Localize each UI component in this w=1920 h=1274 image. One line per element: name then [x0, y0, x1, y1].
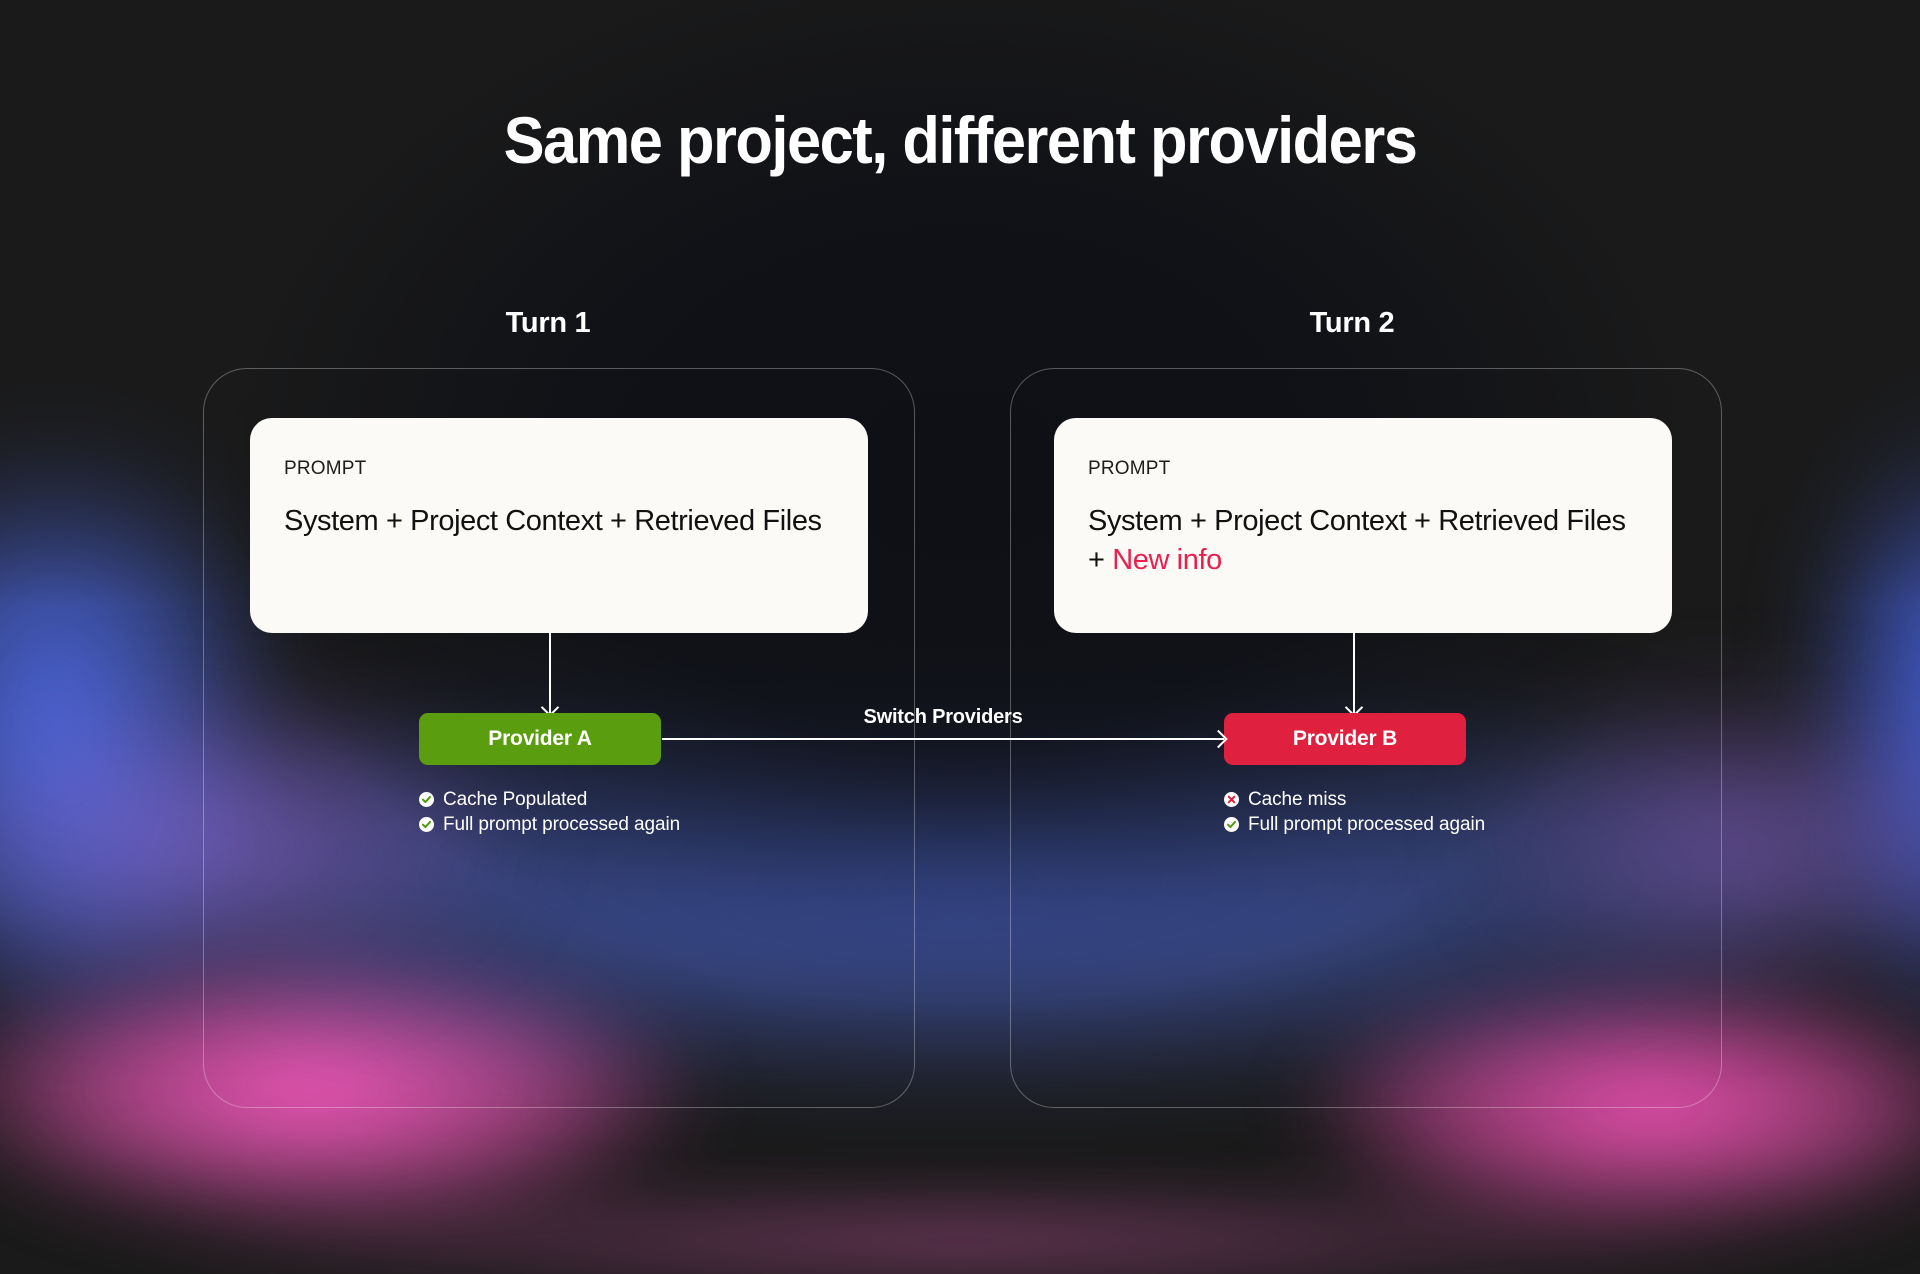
prompt-body: System + Project Context + Retrieved Fil…	[284, 502, 834, 541]
turn-1-label: Turn 1	[398, 307, 698, 340]
switch-providers-label: Switch Providers	[662, 706, 1224, 729]
status-row: Cache Populated	[419, 787, 680, 812]
arrow-down-icon-turn-2	[1353, 633, 1355, 713]
prompt-kicker: PROMPT	[1088, 458, 1638, 480]
arrow-right-icon-switch	[662, 738, 1224, 740]
prompt-body-text: System + Project Context + Retrieved Fil…	[284, 505, 822, 537]
status-label: Cache Populated	[443, 789, 587, 811]
page-title: Same project, different providers	[67, 106, 1853, 175]
x-circle-icon	[1224, 792, 1239, 807]
provider-a-pill[interactable]: Provider A	[419, 713, 661, 765]
status-label: Full prompt processed again	[443, 814, 680, 836]
prompt-body: System + Project Context + Retrieved Fil…	[1088, 502, 1638, 579]
check-circle-icon	[1224, 817, 1239, 832]
status-row: Full prompt processed again	[419, 812, 680, 837]
prompt-kicker: PROMPT	[284, 458, 834, 480]
status-list-turn-2: Cache miss Full prompt processed again	[1224, 787, 1485, 837]
status-row: Cache miss	[1224, 787, 1485, 812]
status-list-turn-1: Cache Populated Full prompt processed ag…	[419, 787, 680, 837]
prompt-card-turn-2: PROMPT System + Project Context + Retrie…	[1054, 418, 1672, 633]
status-label: Full prompt processed again	[1248, 814, 1485, 836]
status-label: Cache miss	[1248, 789, 1346, 811]
check-circle-icon	[419, 817, 434, 832]
diagram-stage: Same project, different providers Turn 1…	[0, 0, 1920, 1080]
arrow-down-icon-turn-1	[549, 633, 551, 713]
prompt-new-info-highlight: New info	[1112, 544, 1222, 576]
check-circle-icon	[419, 792, 434, 807]
prompt-card-turn-1: PROMPT System + Project Context + Retrie…	[250, 418, 868, 633]
status-row: Full prompt processed again	[1224, 812, 1485, 837]
provider-b-pill[interactable]: Provider B	[1224, 713, 1466, 765]
turn-2-label: Turn 2	[1202, 307, 1502, 340]
